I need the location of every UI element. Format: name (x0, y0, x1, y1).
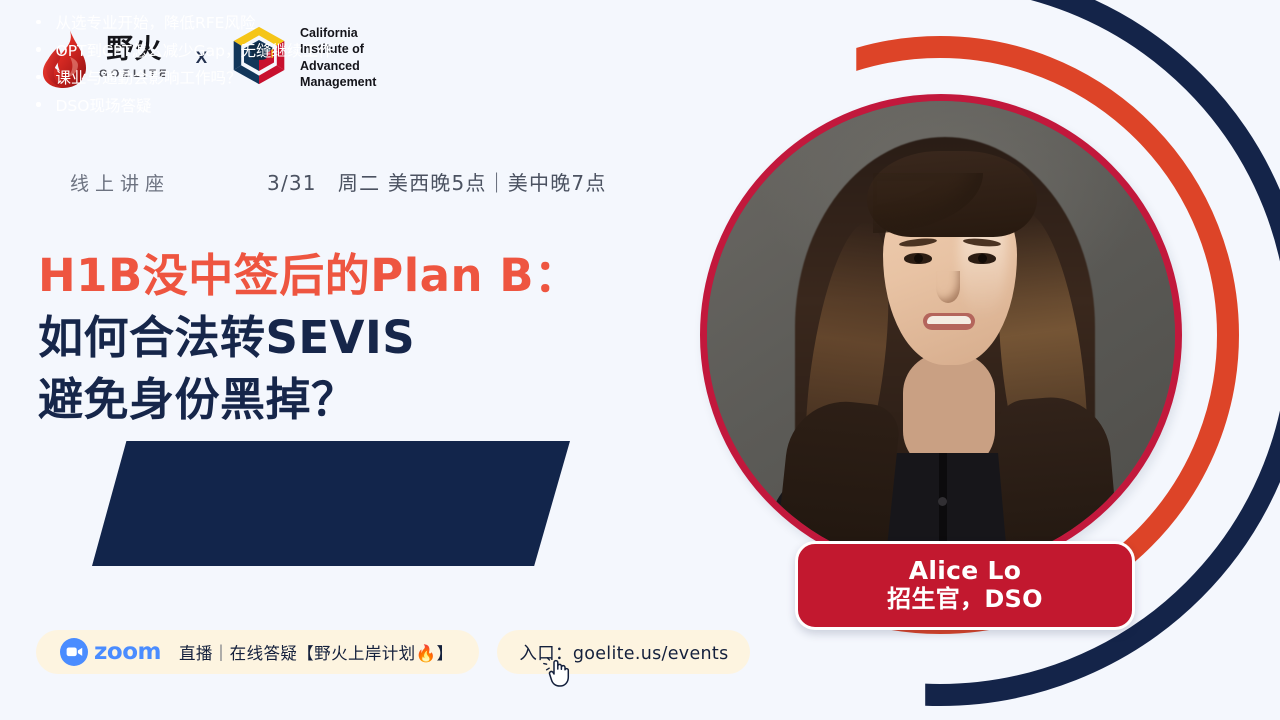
list-item: 从选专业开始，降低RFE风险 (36, 10, 334, 38)
list-item: 课业与通勤会影响工作吗？ (36, 65, 334, 93)
headline-line-1: H1B没中签后的Plan B： (38, 245, 728, 307)
portrait-photo (707, 101, 1175, 569)
video-camera-icon (60, 638, 88, 666)
event-meta-row: 线上讲座 3/31 周二 美西晚5点｜美中晚7点 (70, 167, 710, 196)
speaker-name-label: Alice Lo (909, 557, 1021, 585)
zoom-info-pill: zoom 直播｜在线答疑【野火上岸计划🔥】 (36, 630, 479, 674)
event-datetime-label: 3/31 周二 美西晚5点｜美中晚7点 (267, 167, 607, 196)
footer-bar: zoom 直播｜在线答疑【野火上岸计划🔥】 入口：goelite.us/even… (36, 630, 750, 674)
zoom-logo: zoom (60, 638, 161, 666)
bullet-dot-icon (36, 75, 41, 80)
portrait-pupil-right (978, 254, 987, 263)
bullet-dot-icon (36, 102, 41, 107)
broadcast-caption: 直播｜在线答疑【野火上岸计划🔥】 (179, 640, 453, 664)
portrait-teeth (927, 316, 971, 324)
agenda-list: 从选专业开始，降低RFE风险 OPT到CPT怎么减少Gap，无缝继续工作 课业与… (36, 10, 334, 120)
agenda-item-label: DSO现场答疑 (56, 93, 152, 121)
registration-link-pill[interactable]: 入口：goelite.us/events (497, 630, 750, 674)
agenda-item-label: 从选专业开始，降低RFE风险 (56, 10, 256, 38)
speaker-portrait (700, 94, 1182, 576)
agenda-item-label: OPT到CPT怎么减少Gap，无缝继续工作 (56, 38, 334, 66)
portrait-button (938, 497, 947, 506)
headline-line-2: 如何合法转SEVIS (38, 307, 728, 369)
speaker-name-plate: Alice Lo 招生官，DSO (795, 541, 1135, 630)
portrait-mouth (923, 313, 975, 330)
list-item: OPT到CPT怎么减少Gap，无缝继续工作 (36, 38, 334, 66)
bullet-dot-icon (36, 20, 41, 25)
agenda-panel (92, 441, 570, 566)
speaker-role-label: 招生官，DSO (887, 585, 1043, 614)
portrait-nose (936, 271, 960, 303)
list-item: DSO现场答疑 (36, 93, 334, 121)
agenda-item-label: 课业与通勤会影响工作吗？ (56, 65, 242, 93)
event-format-label: 线上讲座 (70, 169, 170, 196)
zoom-wordmark: zoom (94, 639, 161, 665)
page-title: H1B没中签后的Plan B： 如何合法转SEVIS 避免身份黑掉？ (38, 245, 728, 431)
pointing-hand-cursor-icon (543, 656, 573, 688)
webinar-poster: 野火 GOELITE X (0, 0, 1280, 720)
headline-line-3: 避免身份黑掉？ (38, 369, 728, 431)
portrait-pupil-left (914, 254, 923, 263)
bullet-dot-icon (36, 47, 41, 52)
